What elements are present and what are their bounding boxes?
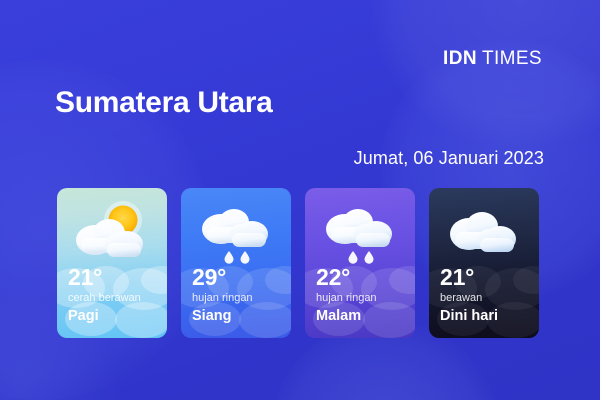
temperature-value: 21° (440, 265, 531, 289)
condition-label: cerah berawan (68, 290, 159, 307)
temperature-value: 22° (316, 265, 407, 289)
forecast-card-dini-hari[interactable]: 21° berawan Dini hari (429, 188, 539, 338)
brand-logo: IDNTIMES (443, 48, 542, 70)
cloud-rain-icon (181, 196, 291, 274)
period-label: Siang (192, 307, 283, 326)
forecast-card-malam[interactable]: 22° hujan ringan Malam (305, 188, 415, 338)
forecast-card-text: 21° cerah berawan Pagi (68, 265, 159, 326)
weather-forecast-card: IDNTIMES Sumatera Utara Jumat, 06 Januar… (0, 0, 600, 400)
forecast-card-text: 29° hujan ringan Siang (192, 265, 283, 326)
condition-label: hujan ringan (316, 290, 407, 307)
forecast-card-siang[interactable]: 29° hujan ringan Siang (181, 188, 291, 338)
temperature-value: 21° (68, 265, 159, 289)
page-title: Sumatera Utara (55, 86, 273, 120)
temperature-value: 29° (192, 265, 283, 289)
forecast-card-text: 22° hujan ringan Malam (316, 265, 407, 326)
background-blob-top-right (370, 0, 600, 150)
sun-behind-cloud-icon (57, 196, 167, 274)
cloud-icon (429, 196, 539, 274)
forecast-card-text: 21° berawan Dini hari (440, 265, 531, 326)
period-label: Malam (316, 307, 407, 326)
forecast-date: Jumat, 06 Januari 2023 (354, 148, 544, 169)
condition-label: hujan ringan (192, 290, 283, 307)
cloud-rain-icon (305, 196, 415, 274)
forecast-card-pagi[interactable]: 21° cerah berawan Pagi (57, 188, 167, 338)
period-label: Dini hari (440, 307, 531, 326)
forecast-card-list: 21° cerah berawan Pagi (57, 188, 539, 338)
period-label: Pagi (68, 307, 159, 326)
condition-label: berawan (440, 290, 531, 307)
brand-logo-times: TIMES (482, 48, 542, 69)
brand-logo-idn: IDN (443, 48, 477, 69)
